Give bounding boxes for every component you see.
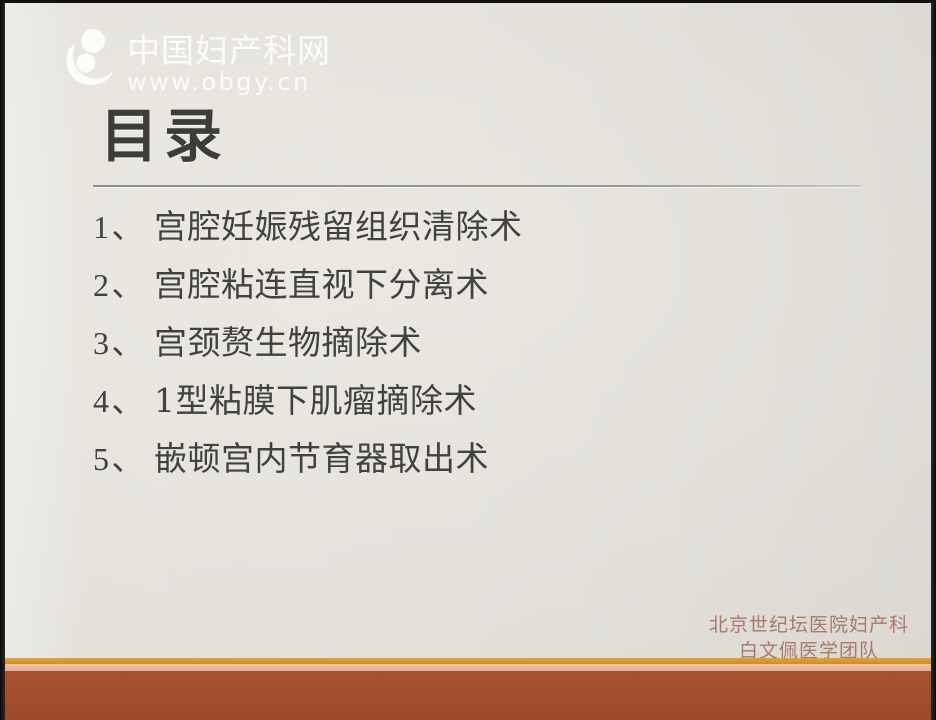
watermark-site-name: 中国妇产科网 bbox=[127, 34, 331, 68]
footer-band-brown bbox=[5, 670, 931, 720]
list-item: 1 、 宫腔妊娠残留组织清除术 bbox=[93, 198, 883, 256]
title-divider bbox=[93, 185, 861, 187]
watermark: 中国妇产科网 www.obgy.cn bbox=[63, 28, 331, 95]
list-item-number: 4 bbox=[93, 372, 110, 430]
list-item: 3 、 宫颈赘生物摘除术 bbox=[93, 314, 883, 372]
list-item-separator: 、 bbox=[112, 256, 145, 314]
list-item-number: 1 bbox=[93, 198, 110, 256]
video-frame: 中国妇产科网 www.obgy.cn 目录 1 、 宫腔妊娠残留组织清除术 2 … bbox=[0, 0, 936, 720]
slide-canvas: 中国妇产科网 www.obgy.cn 目录 1 、 宫腔妊娠残留组织清除术 2 … bbox=[5, 2, 931, 720]
table-of-contents-list: 1 、 宫腔妊娠残留组织清除术 2 、 宫腔粘连直视下分离术 3 、 宫颈赘生物… bbox=[93, 198, 883, 488]
list-item-label: 1型粘膜下肌瘤摘除术 bbox=[154, 372, 477, 430]
frame-left-bezel bbox=[0, 0, 5, 720]
list-item: 2 、 宫腔粘连直视下分离术 bbox=[93, 256, 883, 314]
watermark-site-url: www.obgy.cn bbox=[127, 69, 331, 95]
footer-institution: 北京世纪坛医院妇产科 bbox=[709, 612, 909, 638]
list-item-number: 2 bbox=[93, 256, 110, 314]
footer-credit: 北京世纪坛医院妇产科 白文佩医学团队 bbox=[709, 612, 909, 664]
list-item-label: 宫腔妊娠残留组织清除术 bbox=[154, 198, 523, 256]
list-item-separator: 、 bbox=[112, 372, 145, 430]
list-item: 4 、 1型粘膜下肌瘤摘除术 bbox=[93, 372, 883, 430]
list-item-label: 宫腔粘连直视下分离术 bbox=[154, 256, 489, 314]
list-item-number: 5 bbox=[93, 430, 110, 488]
list-item-label: 宫颈赘生物摘除术 bbox=[154, 314, 422, 372]
frame-top-bezel bbox=[0, 0, 936, 3]
frame-right-bezel bbox=[931, 0, 936, 720]
list-item-separator: 、 bbox=[112, 314, 145, 372]
watermark-text-block: 中国妇产科网 www.obgy.cn bbox=[127, 28, 331, 95]
footer-band-light bbox=[5, 664, 931, 671]
list-item-separator: 、 bbox=[112, 430, 145, 488]
mother-and-child-logo-icon bbox=[63, 28, 119, 90]
list-item: 5 、 嵌顿宫内节育器取出术 bbox=[93, 430, 883, 488]
list-item-label: 嵌顿宫内节育器取出术 bbox=[154, 430, 489, 488]
page-title: 目录 bbox=[100, 100, 228, 172]
list-item-number: 3 bbox=[93, 314, 110, 372]
list-item-separator: 、 bbox=[112, 198, 145, 256]
